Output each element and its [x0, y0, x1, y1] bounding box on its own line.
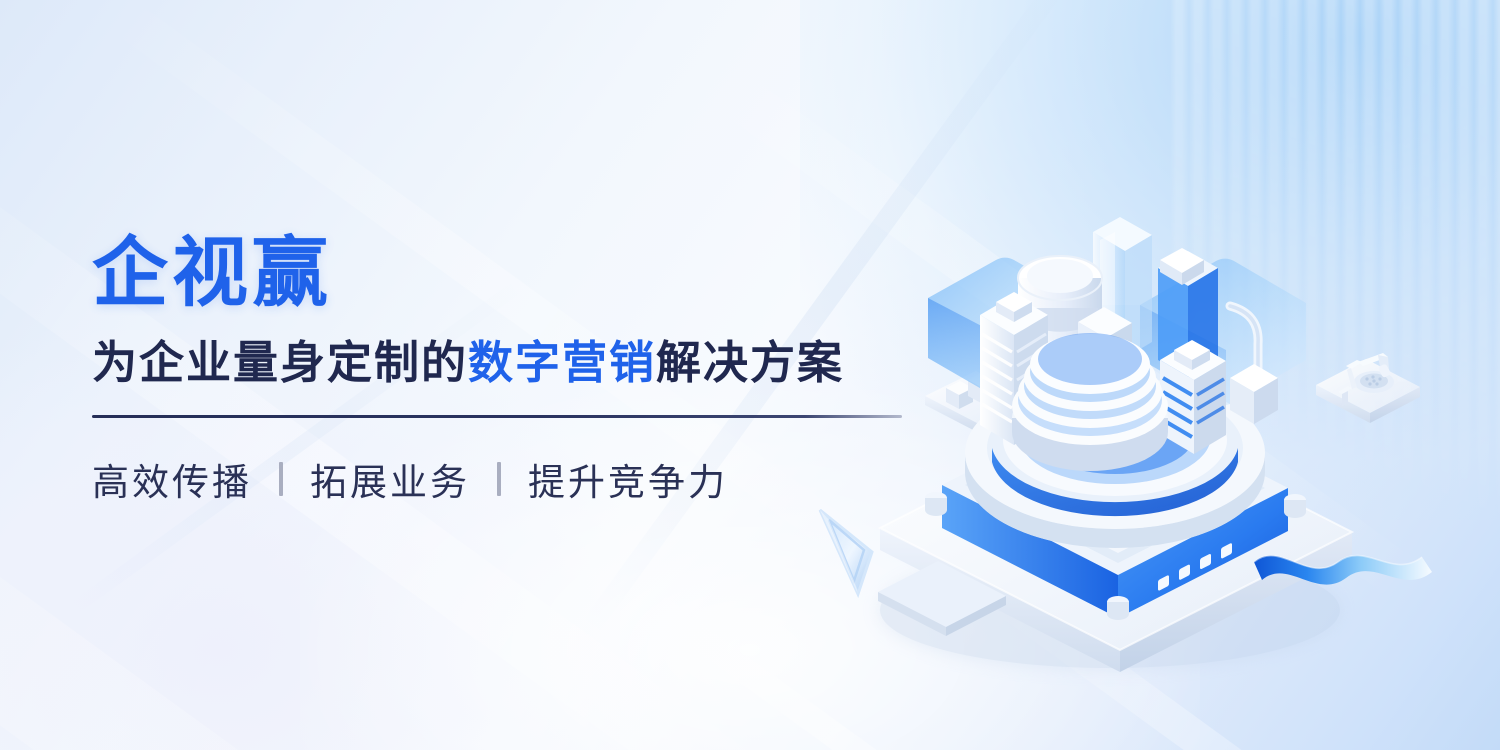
hero-text-block: 企视赢 为企业量身定制的数字营销解决方案 高效传播 拓展业务 提升竞争力 — [92, 236, 922, 506]
city-tower-cluster — [980, 217, 1278, 471]
glass-wing-panel-icon — [928, 258, 1306, 406]
hero-banner: 企视赢 为企业量身定制的数字营销解决方案 高效传播 拓展业务 提升竞争力 — [0, 0, 1500, 750]
illustration-ground-shadow — [880, 552, 1340, 668]
tagline-item-3: 提升竞争力 — [528, 452, 728, 506]
layered-disc-stack — [1012, 333, 1168, 471]
tagline-separator-icon — [497, 462, 501, 496]
subtitle-trail: 解决方案 — [656, 337, 844, 388]
glass-triangle-icon — [820, 510, 872, 594]
background-pinstripe-band — [1170, 0, 1500, 520]
subtitle-highlight: 数字营销 — [468, 337, 656, 388]
led-indicator-dots — [1158, 543, 1232, 592]
tagline-separator-icon — [279, 462, 283, 496]
hero-tagline: 高效传播 拓展业务 提升竞争力 — [92, 452, 922, 506]
gradient-ribbon-icon — [1254, 556, 1432, 585]
round-dais — [965, 377, 1265, 548]
chip-pins — [925, 492, 1306, 620]
side-tray-plate — [878, 561, 1006, 636]
hero-subtitle: 为企业量身定制的数字营销解决方案 — [92, 336, 922, 389]
background-light-streak — [960, 560, 1482, 750]
divider-rule — [92, 415, 902, 418]
brand-title: 企视赢 — [92, 236, 922, 312]
subtitle-lead: 为企业量身定制的 — [92, 337, 468, 388]
base-platform — [880, 410, 1352, 672]
tagline-item-1: 高效传播 — [92, 452, 252, 506]
tagline-item-2: 拓展业务 — [310, 452, 470, 506]
robot-arm-pad-icon — [1316, 353, 1420, 423]
background-light-streak — [545, 520, 1191, 750]
chip-base-platform — [925, 398, 1306, 620]
mini-building-pad-icon — [925, 371, 1028, 432]
